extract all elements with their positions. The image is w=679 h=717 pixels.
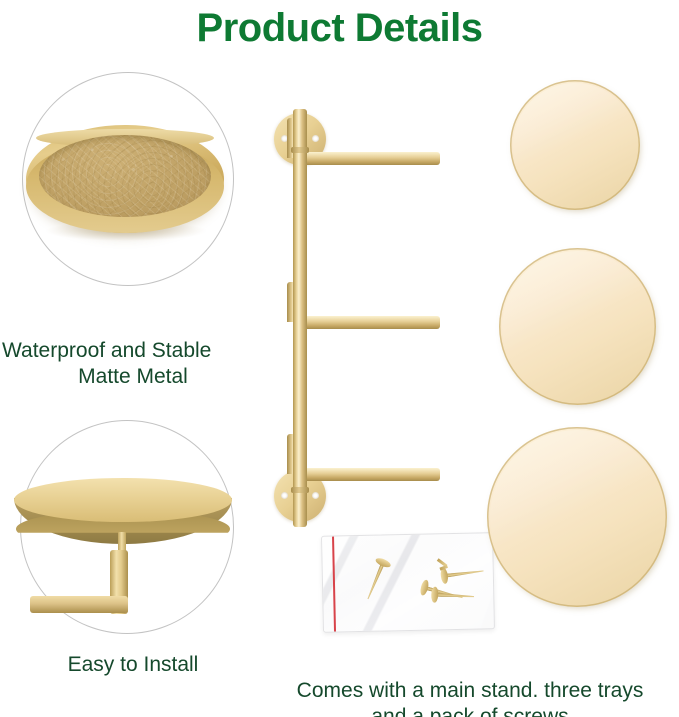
arm-horizontal: [300, 316, 440, 329]
screw-fragment-icon: [437, 561, 449, 573]
tray-large: [487, 427, 667, 607]
install-detail-photo: [6, 470, 246, 610]
caption-includes-line2: and a pack of screws: [262, 704, 678, 717]
caption-waterproof-line2: Matte Metal: [2, 364, 264, 390]
tray-textured-surface: [39, 135, 211, 217]
screw-hole-icon: [312, 492, 319, 499]
tray-top-surface: [14, 478, 232, 522]
stand-vertical-pole: [293, 109, 307, 527]
caption-includes-line1: Comes with a main stand. three trays: [297, 679, 644, 702]
caption-easy-to-install: Easy to Install: [8, 652, 258, 678]
product-details-page: Product Details Waterproof and Stable Ma…: [0, 0, 679, 717]
pole-joint-bottom: [291, 487, 309, 493]
arm-horizontal: [300, 468, 440, 481]
pole-joint-top: [291, 147, 309, 153]
screw-hole-icon: [312, 135, 319, 142]
caption-waterproof: Waterproof and Stable Matte Metal: [2, 312, 264, 416]
bag-plastic-sheen: [322, 533, 494, 632]
caption-includes: Comes with a main stand. three trays and…: [262, 652, 678, 717]
tray-small: [510, 80, 640, 210]
page-title: Product Details: [0, 2, 679, 54]
tray-detail-photo: [26, 125, 224, 245]
caption-waterproof-line1: Waterproof and Stable: [2, 339, 211, 362]
screw-fragment-part: [439, 565, 448, 571]
tray-medium: [499, 248, 656, 405]
screw-hole-icon: [281, 492, 288, 499]
bracket-horizontal-arm: [30, 596, 128, 613]
main-stand: [262, 95, 462, 535]
arm-horizontal: [300, 152, 440, 165]
screw-pack-bag: [321, 532, 495, 633]
